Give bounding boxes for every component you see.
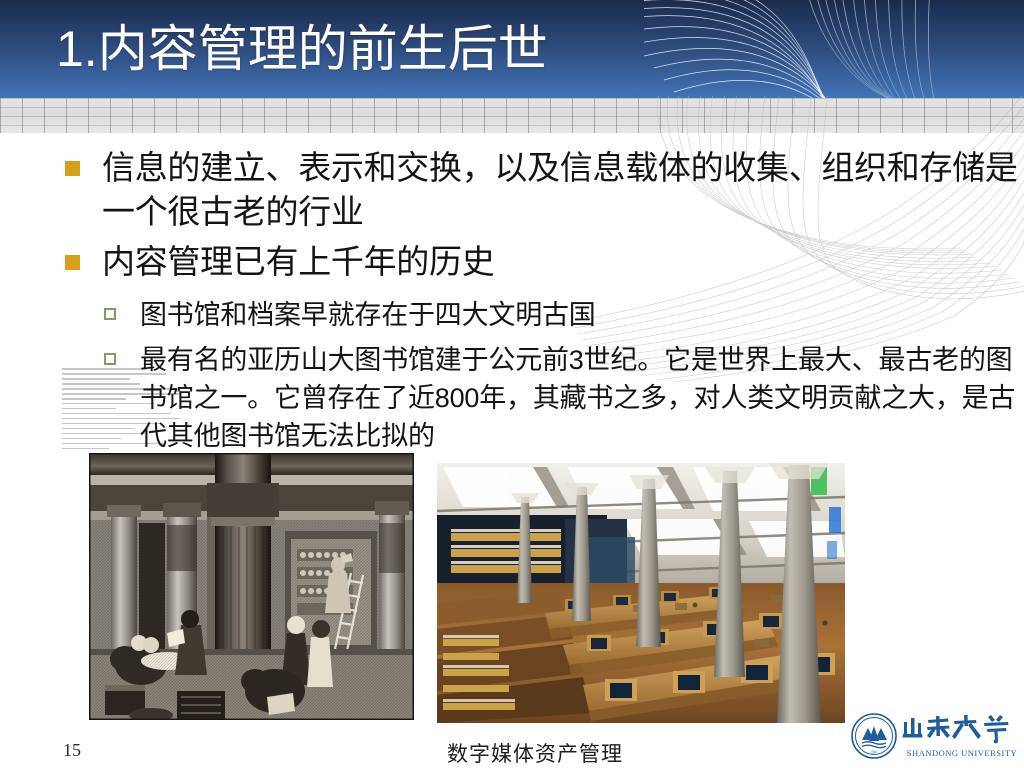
presentation-slide: 1.内容管理的前生后世	[0, 0, 1024, 768]
bullet-text: 内容管理已有上千年的历史	[102, 243, 494, 280]
bullet-hollow-square-icon	[104, 353, 116, 365]
bullet-hollow-square-icon	[104, 308, 116, 320]
svg-text:1901: 1901	[870, 750, 878, 755]
logo-chinese-name	[903, 715, 1009, 743]
shandong-university-logo: 1901 SHANDONG UNI	[848, 712, 1020, 764]
slide-page-number: 15	[52, 740, 92, 761]
logo-english-name: SHANDONG UNIVERSITY	[907, 748, 1017, 758]
bullet-text: 图书馆和档案早就存在于四大文明古国	[140, 300, 596, 330]
header-grid-band	[0, 98, 1024, 133]
seal-icon: 1901	[852, 714, 896, 758]
bullet-text: 信息的建立、表示和交换，以及信息载体的收集、组织和存储是一个很古老的行业	[102, 149, 1018, 230]
slide-header: 1.内容管理的前生后世	[0, 0, 1024, 98]
slide-body-content: 信息的建立、表示和交换，以及信息载体的收集、组织和存储是一个很古老的行业 内容管…	[0, 133, 1024, 453]
image-ancient-library-engraving	[89, 453, 414, 720]
bullet-item-level2: 最有名的亚历山大图书馆建于公元前3世纪。它是世界上最大、最古老的图书馆之一。它曾…	[0, 341, 1024, 455]
bullet-item-level1: 信息的建立、表示和交换，以及信息载体的收集、组织和存储是一个很古老的行业	[0, 146, 1024, 234]
bullet-square-icon	[65, 161, 80, 176]
image-modern-library-photo	[437, 463, 845, 723]
bullet-item-level1: 内容管理已有上千年的历史	[0, 240, 1024, 284]
bullet-item-level2: 图书馆和档案早就存在于四大文明古国	[0, 296, 1024, 334]
footer-course-title: 数字媒体资产管理	[447, 738, 623, 768]
bullet-square-icon	[65, 255, 80, 270]
bullet-text: 最有名的亚历山大图书馆建于公元前3世纪。它是世界上最大、最古老的图书馆之一。它曾…	[140, 345, 1015, 451]
page-title: 1.内容管理的前生后世	[56, 12, 548, 86]
